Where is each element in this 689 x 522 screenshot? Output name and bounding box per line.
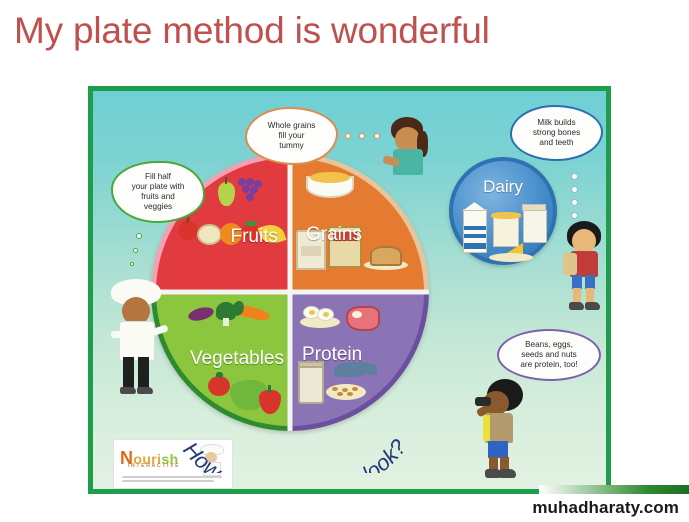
poster-canvas: Whole grains fill your tummy Fill half y… bbox=[93, 91, 606, 489]
plate-section-label-dairy: Dairy bbox=[453, 177, 553, 197]
food-dairy-plate bbox=[489, 253, 533, 262]
food-cottage-cheese bbox=[493, 217, 519, 247]
logo-fine-print bbox=[122, 476, 222, 478]
plate-section-label-grains: Grains bbox=[306, 224, 362, 246]
backpack bbox=[563, 253, 577, 275]
food-milk-carton bbox=[463, 209, 487, 253]
food-bean-jar bbox=[298, 364, 324, 404]
logo-tagline: INTERACTIVE bbox=[128, 463, 180, 469]
binoculars-icon bbox=[475, 397, 491, 406]
bubble-dot bbox=[571, 186, 578, 193]
logo-chef-icon bbox=[198, 444, 224, 474]
food-bread bbox=[370, 246, 402, 266]
bubble-dot bbox=[136, 233, 142, 239]
bubble-dot bbox=[345, 133, 351, 139]
watermark-bar bbox=[539, 485, 689, 494]
speech-bubble-protein-text: Beans, eggs, seeds and nuts are protein,… bbox=[520, 340, 577, 370]
plate-section-label-vegetables: Vegetables bbox=[190, 348, 284, 370]
food-pear bbox=[218, 182, 235, 206]
myplate-poster: Whole grains fill your tummy Fill half y… bbox=[88, 86, 611, 494]
bubble-dot bbox=[374, 133, 380, 139]
speech-bubble-fruits: Fill half your plate with fruits and veg… bbox=[111, 161, 205, 223]
food-egg bbox=[317, 308, 334, 321]
food-steak bbox=[346, 306, 380, 331]
plate-section-dairy: Dairy bbox=[449, 157, 557, 265]
plate-section-protein: Protein bbox=[290, 292, 429, 431]
character-chef bbox=[105, 279, 169, 399]
food-cereal-bowl bbox=[306, 176, 354, 198]
page-title: My plate method is wonderful bbox=[14, 8, 490, 54]
food-beans-plate bbox=[326, 384, 366, 400]
character-girl-with-backpack bbox=[559, 221, 611, 319]
food-melon bbox=[197, 224, 222, 245]
food-tomato bbox=[208, 376, 230, 396]
food-apple bbox=[178, 221, 198, 240]
bubble-dot bbox=[133, 248, 138, 253]
food-pepper bbox=[259, 390, 281, 414]
bubble-dot bbox=[571, 199, 578, 206]
character-girl-with-braids bbox=[381, 117, 437, 183]
food-yogurt-jar bbox=[523, 209, 547, 243]
character-boy-with-binoculars bbox=[473, 379, 533, 489]
food-grapes bbox=[238, 178, 264, 204]
plate-divider-horizontal bbox=[151, 290, 429, 295]
food-eggplant bbox=[187, 305, 215, 323]
speech-bubble-dairy-text: Milk builds strong bones and teeth bbox=[533, 118, 580, 148]
speech-bubble-dairy: Milk builds strong bones and teeth bbox=[510, 105, 603, 161]
plate-section-label-fruits: Fruits bbox=[231, 226, 279, 248]
plate-section-label-protein: Protein bbox=[302, 344, 362, 366]
bubble-dot bbox=[571, 173, 578, 180]
bubble-dot bbox=[571, 212, 578, 219]
bubble-dot bbox=[359, 133, 365, 139]
food-carrot bbox=[239, 305, 271, 323]
plate-section-vegetables: Vegetables bbox=[151, 292, 290, 431]
speech-bubble-fruits-text: Fill half your plate with fruits and veg… bbox=[132, 172, 185, 212]
nourish-interactive-logo: Nourish INTERACTIVE bbox=[113, 439, 233, 489]
watermark: muhadharaty.com bbox=[532, 498, 679, 518]
speech-bubble-protein: Beans, eggs, seeds and nuts are protein,… bbox=[497, 329, 601, 381]
logo-fine-print bbox=[122, 480, 214, 482]
speech-bubble-grains: Whole grains fill your tummy bbox=[245, 107, 338, 165]
speech-bubble-grains-text: Whole grains fill your tummy bbox=[268, 121, 316, 151]
bubble-dot bbox=[130, 262, 134, 266]
